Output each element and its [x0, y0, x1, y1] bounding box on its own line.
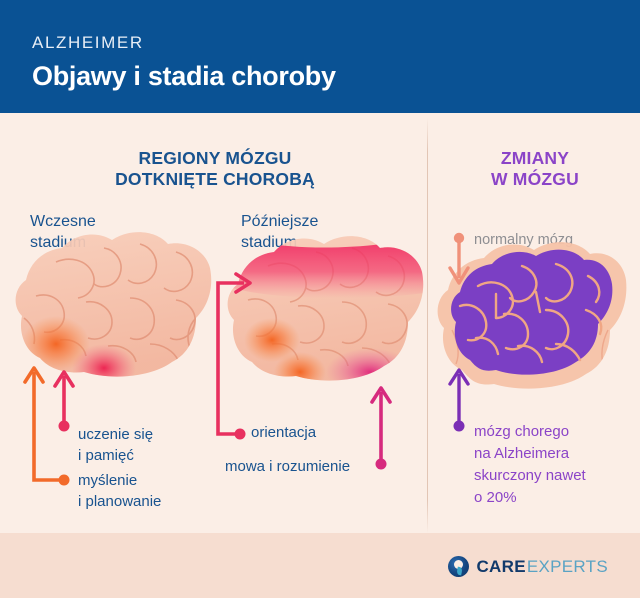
right-panel-title-line2: W MÓZGU: [440, 169, 630, 190]
callout-learning-line2: i pamięć: [78, 445, 153, 466]
left-panel-title-line2: DOTKNIĘTE CHOROBĄ: [40, 169, 390, 190]
callout-shrink-line2: na Alzheimera: [474, 443, 586, 465]
panel-divider: [427, 118, 428, 533]
logo-text-primary: CARE: [476, 557, 525, 577]
infographic-root: ALZHEIMER Objawy i stadia choroby REGION…: [0, 0, 640, 598]
page-title: Objawy i stadia choroby: [32, 61, 336, 92]
left-panel-title-line1: REGIONY MÓZGU: [40, 148, 390, 169]
header-banner: ALZHEIMER Objawy i stadia choroby: [0, 0, 640, 113]
early-stage-label-line2: stadium: [30, 232, 96, 253]
care-experts-circle-icon: [448, 556, 469, 577]
left-panel-title: REGIONY MÓZGU DOTKNIĘTE CHOROBĄ: [40, 148, 390, 190]
late-stage-label-line1: Późniejsze: [241, 211, 318, 232]
callout-thinking-line2: i planowanie: [78, 491, 161, 512]
callout-shrunken-brain: mózg chorego na Alzheimera skurczony naw…: [474, 421, 586, 509]
callout-learning-line1: uczenie się: [78, 424, 153, 445]
early-stage-label: Wczesne stadium: [30, 211, 96, 253]
early-stage-label-line1: Wczesne: [30, 211, 96, 232]
late-stage-label: Późniejsze stadium: [241, 211, 318, 253]
logo-text-secondary: EXPERTS: [527, 557, 608, 577]
header-kicker: ALZHEIMER: [32, 33, 144, 53]
callout-orientation: orientacja: [251, 422, 316, 443]
callout-shrink-line1: mózg chorego: [474, 421, 586, 443]
callout-speech: mowa i rozumienie: [225, 456, 350, 477]
careexperts-logo: CARE EXPERTS: [448, 556, 608, 577]
callout-thinking: myślenie i planowanie: [78, 470, 161, 512]
late-stage-label-line2: stadium: [241, 232, 318, 253]
callout-learning: uczenie się i pamięć: [78, 424, 153, 466]
right-panel-title: ZMIANY W MÓZGU: [440, 148, 630, 190]
callout-thinking-line1: myślenie: [78, 470, 161, 491]
callout-shrink-line3: skurczony nawet: [474, 465, 586, 487]
normal-brain-label: normalny mózg: [474, 232, 573, 248]
callout-shrink-line4: o 20%: [474, 487, 586, 509]
right-panel-title-line1: ZMIANY: [440, 148, 630, 169]
